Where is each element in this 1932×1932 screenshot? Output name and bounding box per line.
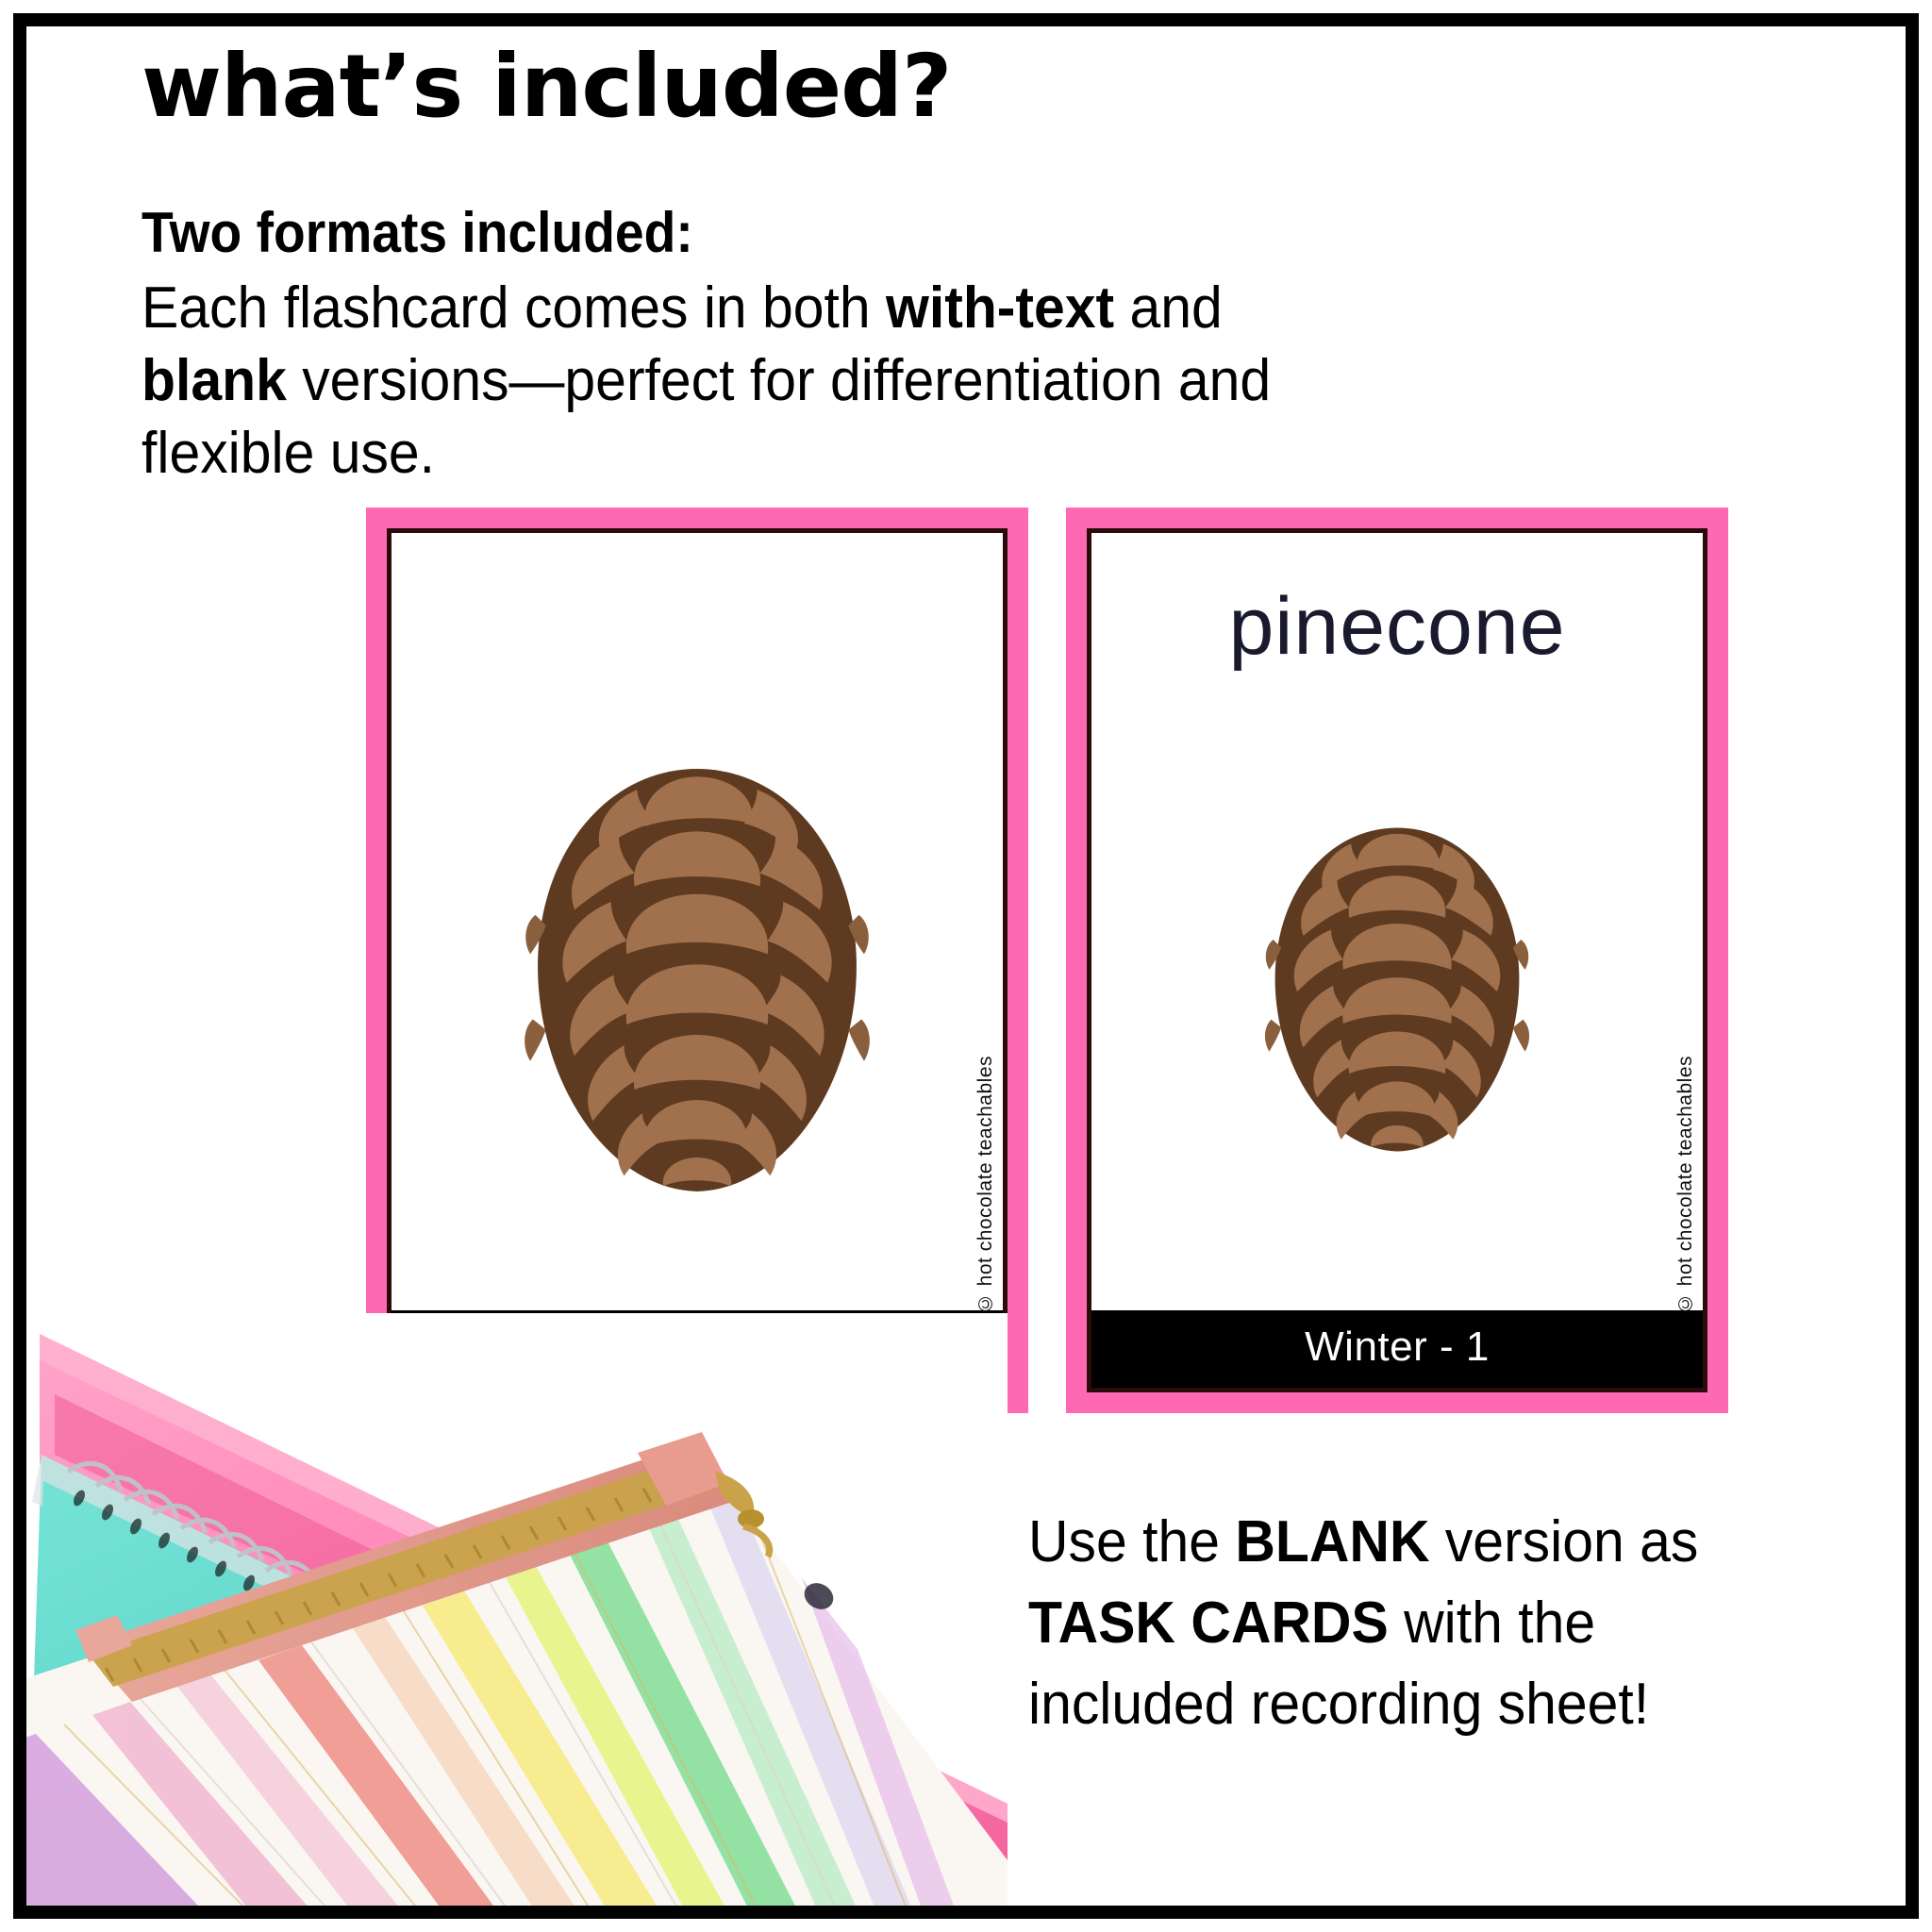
flashcard-artwork-area xyxy=(391,678,1003,1310)
card-footer-label: Winter - 1 xyxy=(1091,1310,1703,1388)
page-title: what’s included? xyxy=(142,36,951,137)
page-root: what’s included? Two formats included: E… xyxy=(0,0,1932,1932)
paragraph-bold-with-text: with-text xyxy=(886,275,1114,341)
card-credit-text: © hot chocolate teachables xyxy=(974,1056,997,1314)
paragraph-mid: and xyxy=(1114,275,1223,341)
pencil-pouch-photo xyxy=(26,1313,1008,1906)
flashcard-word-pinecone: pinecone xyxy=(1091,575,1703,678)
section-subheading: Two formats included: xyxy=(142,200,693,265)
blurb-mid: version as xyxy=(1429,1509,1698,1574)
blurb-bold-task-cards: TASK CARDS xyxy=(1028,1591,1389,1656)
blurb-prefix: Use the xyxy=(1028,1509,1235,1574)
card-credit-text: © hot chocolate teachables xyxy=(1674,1056,1697,1314)
flashcard-inner: pinecone xyxy=(1087,528,1707,1392)
flashcard-blank[interactable]: © hot chocolate teachables Winter - 1 xyxy=(366,508,1028,1413)
paragraph-prefix: Each flashcard comes in both xyxy=(142,275,886,341)
flashcard-artwork-area xyxy=(1091,678,1703,1310)
task-cards-blurb: Use the BLANK version as TASK CARDS with… xyxy=(1028,1502,1799,1745)
description-paragraph: Each flashcard comes in both with-text a… xyxy=(142,272,1342,490)
paragraph-suffix: versions—perfect for differentiation and… xyxy=(142,348,1271,486)
pinecone-icon xyxy=(494,758,900,1202)
paragraph-bold-blank: blank xyxy=(142,348,287,413)
pinecone-icon xyxy=(1241,820,1553,1159)
flashcard-inner: © hot chocolate teachables Winter - 1 xyxy=(387,528,1008,1392)
flashcard-with-text[interactable]: pinecone xyxy=(1066,508,1728,1413)
blurb-bold-blank: BLANK xyxy=(1235,1509,1429,1574)
pencil-pouch-illustration xyxy=(26,1313,1008,1906)
